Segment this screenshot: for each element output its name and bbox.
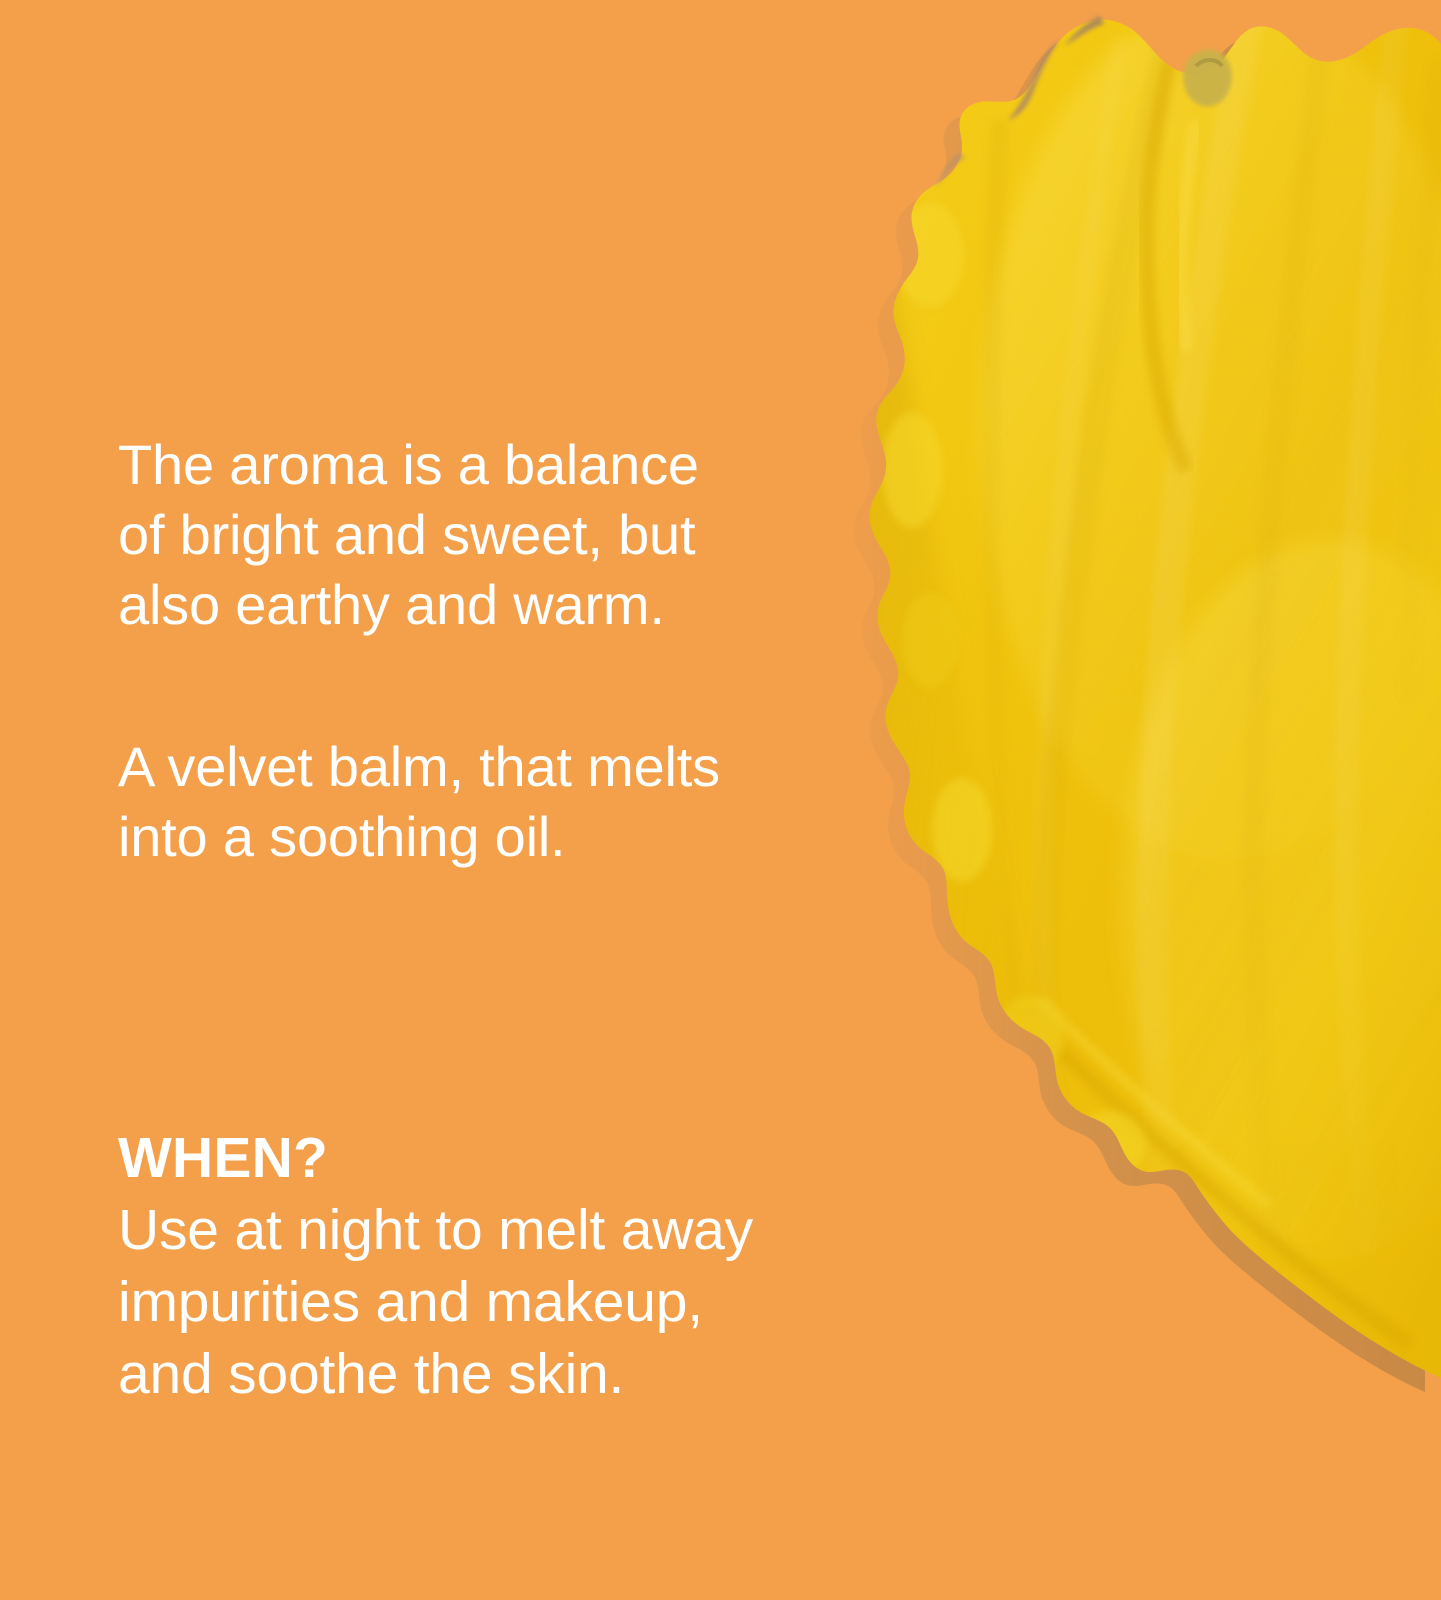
copy-column: The aroma is a balance of bright and swe… xyxy=(118,0,1018,1600)
when-section: WHEN? Use at night to melt away impuriti… xyxy=(118,1122,753,1410)
paragraph-velvet: A velvet balm, that melts into a soothin… xyxy=(118,732,720,872)
paragraph-aroma: The aroma is a balance of bright and swe… xyxy=(118,430,699,640)
when-heading: WHEN? xyxy=(118,1122,753,1194)
product-slide: The aroma is a balance of bright and swe… xyxy=(0,0,1441,1600)
when-body-text: Use at night to melt away impurities and… xyxy=(118,1194,753,1410)
balm-streaks xyxy=(991,0,1440,1340)
balm-notch-bud xyxy=(1183,50,1232,107)
